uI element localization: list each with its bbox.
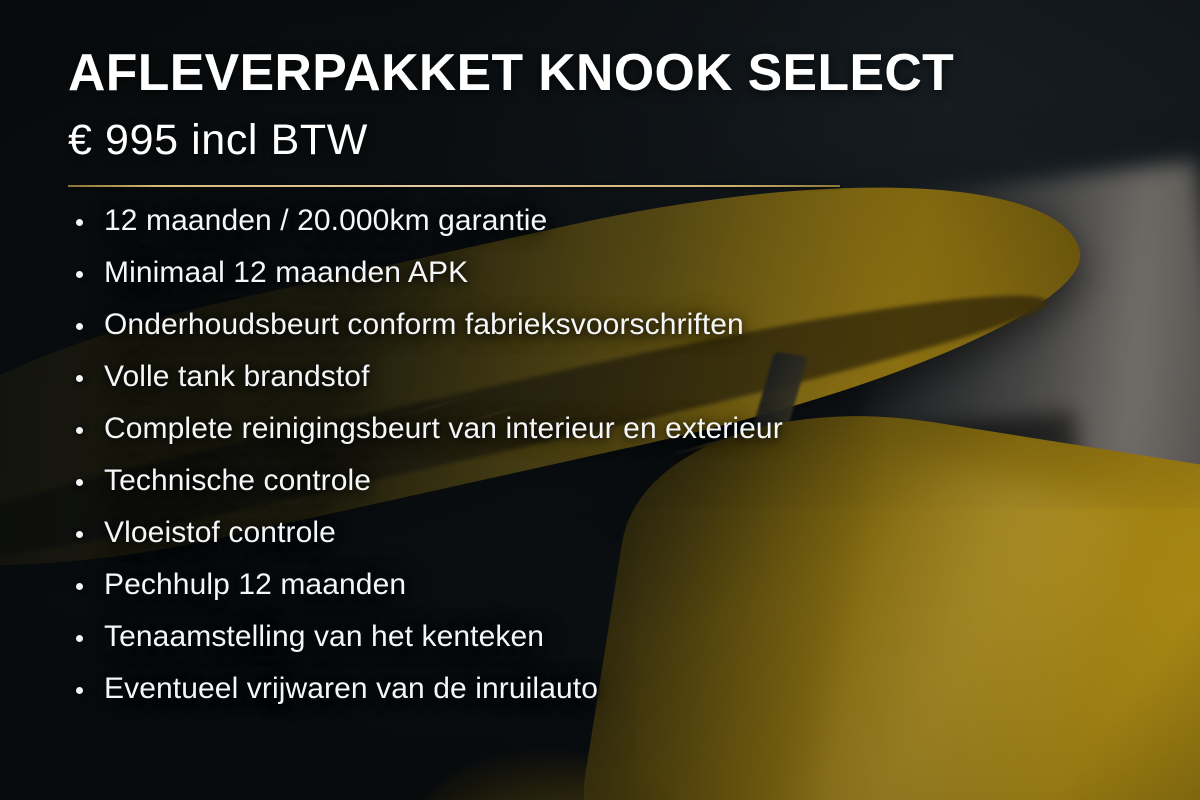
feature-label: 12 maanden / 20.000km garantie bbox=[104, 204, 547, 237]
list-item: Eventueel vrijwaren van de inruilauto bbox=[74, 672, 1200, 706]
feature-label: Eventueel vrijwaren van de inruilauto bbox=[104, 672, 598, 705]
feature-label: Onderhoudsbeurt conform fabrieksvoorschr… bbox=[104, 308, 744, 341]
feature-label: Volle tank brandstof bbox=[104, 360, 370, 393]
gold-divider bbox=[68, 185, 840, 187]
feature-label: Minimaal 12 maanden APK bbox=[104, 256, 468, 289]
list-item: Complete reinigingsbeurt van interieur e… bbox=[74, 412, 1200, 446]
list-item: Pechhulp 12 maanden bbox=[74, 568, 1200, 602]
price-label: € 995 incl BTW bbox=[68, 117, 1200, 163]
feature-list: 12 maanden / 20.000km garantie Minimaal … bbox=[68, 204, 1200, 706]
list-item: Onderhoudsbeurt conform fabrieksvoorschr… bbox=[74, 308, 1200, 342]
feature-label: Vloeistof controle bbox=[104, 516, 336, 549]
list-item: Minimaal 12 maanden APK bbox=[74, 256, 1200, 290]
list-item: Volle tank brandstof bbox=[74, 360, 1200, 394]
page-title: AFLEVERPAKKET KNOOK SELECT bbox=[68, 46, 1194, 100]
list-item: Technische controle bbox=[74, 464, 1200, 498]
feature-label: Pechhulp 12 maanden bbox=[104, 568, 406, 601]
list-item: Vloeistof controle bbox=[74, 516, 1200, 550]
list-item: Tenaamstelling van het kenteken bbox=[74, 620, 1200, 654]
feature-label: Technische controle bbox=[104, 464, 371, 497]
feature-label: Complete reinigingsbeurt van interieur e… bbox=[104, 412, 783, 445]
delivery-package-card: AFLEVERPAKKET KNOOK SELECT € 995 incl BT… bbox=[0, 0, 1200, 800]
feature-label: Tenaamstelling van het kenteken bbox=[104, 620, 544, 653]
card-content: AFLEVERPAKKET KNOOK SELECT € 995 incl BT… bbox=[0, 0, 1200, 800]
list-item: 12 maanden / 20.000km garantie bbox=[74, 204, 1200, 238]
